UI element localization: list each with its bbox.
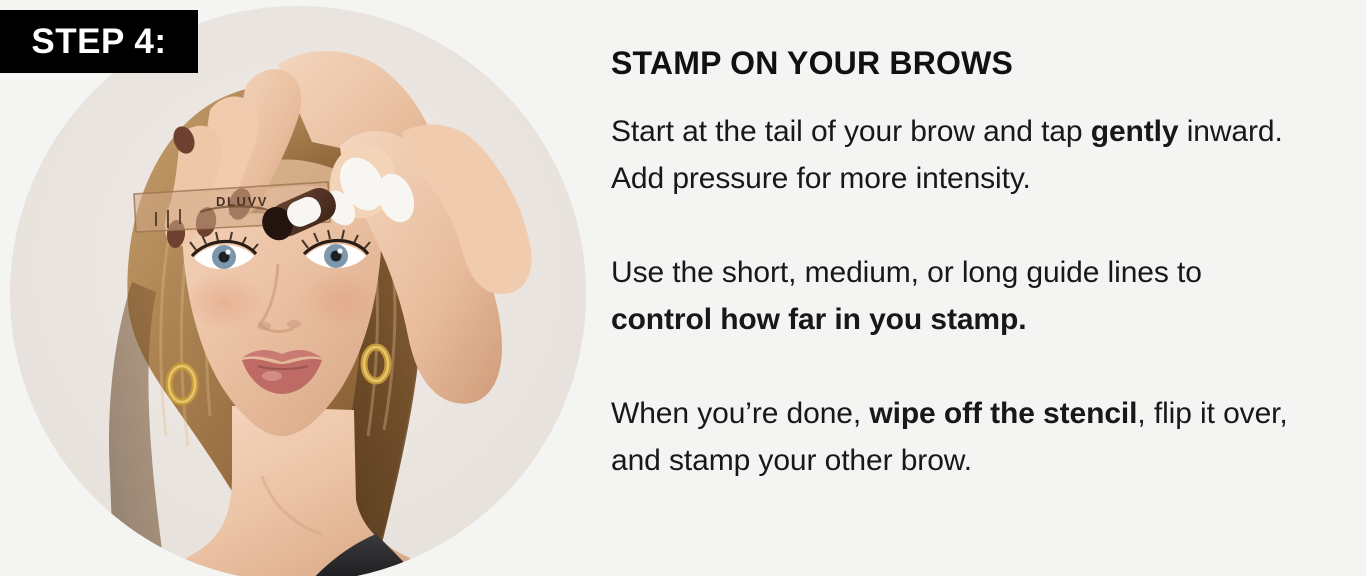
instruction-copy-panel: STAMP ON YOUR BROWS Start at the tail of…	[611, 44, 1301, 484]
text-run-bold: control how far in you stamp.	[611, 303, 1026, 336]
text-run-bold: gently	[1091, 115, 1179, 148]
text-run: When you’re done,	[611, 397, 869, 430]
instruction-paragraph-3: When you’re done, wipe off the stencil, …	[611, 390, 1301, 484]
instruction-paragraph-1: Start at the tail of your brow and tap g…	[611, 108, 1301, 202]
model-photo: DLUVV	[10, 6, 586, 576]
photo-panel: DLUVV	[0, 0, 600, 576]
text-run-bold: wipe off the stencil	[869, 397, 1137, 430]
step-badge: STEP 4:	[0, 10, 198, 73]
text-run: Use the short, medium, or long guide lin…	[611, 256, 1202, 289]
page-title: STAMP ON YOUR BROWS	[611, 44, 1301, 82]
step-badge-label: STEP 4:	[31, 24, 166, 59]
instruction-paragraph-2: Use the short, medium, or long guide lin…	[611, 249, 1301, 343]
step-instruction-card: DLUVV	[0, 0, 1366, 576]
text-run: Start at the tail of your brow and tap	[611, 115, 1091, 148]
